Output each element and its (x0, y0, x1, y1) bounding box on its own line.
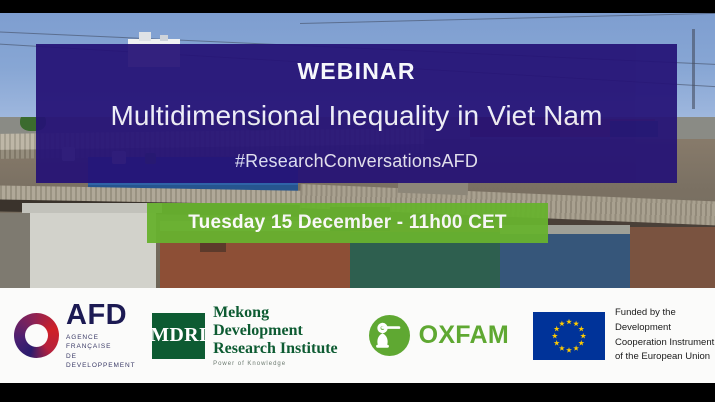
webinar-promo-slide: WEBINAR Multidimensional Inequality in V… (0, 0, 715, 402)
mdri-name-line1: Mekong Development (213, 304, 343, 340)
mdri-acronym-badge: MDRI (152, 313, 205, 359)
logo-mdri: MDRI Mekong Development Research Institu… (152, 304, 343, 367)
webinar-title: Multidimensional Inequality in Viet Nam (36, 100, 677, 132)
utility-pole (692, 29, 695, 109)
concrete-wall (28, 209, 156, 288)
oxfam-figure-icon (369, 315, 410, 356)
concrete-wall (0, 213, 30, 288)
afd-subtitle-line2: DE DEVELOPPEMENT (66, 352, 136, 371)
logo-eu: Funded by the Development Cooperation In… (533, 306, 715, 365)
afd-text-block: AFD AGENCE FRANÇAISE DE DEVELOPPEMENT (66, 301, 136, 371)
oxfam-wordmark: OXFAM (419, 323, 509, 348)
eu-funding-text: Funded by the Development Cooperation In… (615, 306, 715, 365)
afd-subtitle-line1: AGENCE FRANÇAISE (66, 333, 136, 352)
mdri-acronym: MDRI (150, 324, 207, 347)
sponsor-logo-bar: AFD AGENCE FRANÇAISE DE DEVELOPPEMENT MD… (0, 288, 715, 383)
letterbox-top (0, 0, 715, 13)
logo-oxfam: OXFAM (369, 315, 509, 356)
title-banner: WEBINAR Multidimensional Inequality in V… (36, 44, 677, 183)
date-text: Tuesday 15 December - 11h00 CET (188, 212, 506, 234)
distant-building (139, 32, 151, 41)
eu-flag-icon (533, 312, 605, 360)
mdri-tagline: Power of Knowledge (213, 361, 343, 367)
wall-cap (22, 203, 162, 213)
date-banner: Tuesday 15 December - 11h00 CET (147, 203, 548, 243)
webinar-hashtag: #ResearchConversationsAFD (36, 152, 677, 172)
afd-wordmark: AFD (66, 301, 136, 330)
distant-building (160, 35, 168, 41)
window (200, 243, 226, 252)
afd-ring-icon (14, 313, 59, 358)
eu-text-line3: of the European Union (615, 350, 715, 365)
webinar-kicker: WEBINAR (36, 59, 677, 84)
logo-afd: AFD AGENCE FRANÇAISE DE DEVELOPPEMENT (14, 301, 136, 371)
eu-text-line2: Cooperation Instrument (615, 336, 715, 351)
brick-wall (630, 227, 715, 288)
mdri-text-block: Mekong Development Research Institute Po… (213, 304, 343, 367)
mdri-name-line2: Research Institute (213, 340, 343, 358)
eu-text-line1: Funded by the Development (615, 306, 715, 335)
letterbox-bottom (0, 383, 715, 402)
